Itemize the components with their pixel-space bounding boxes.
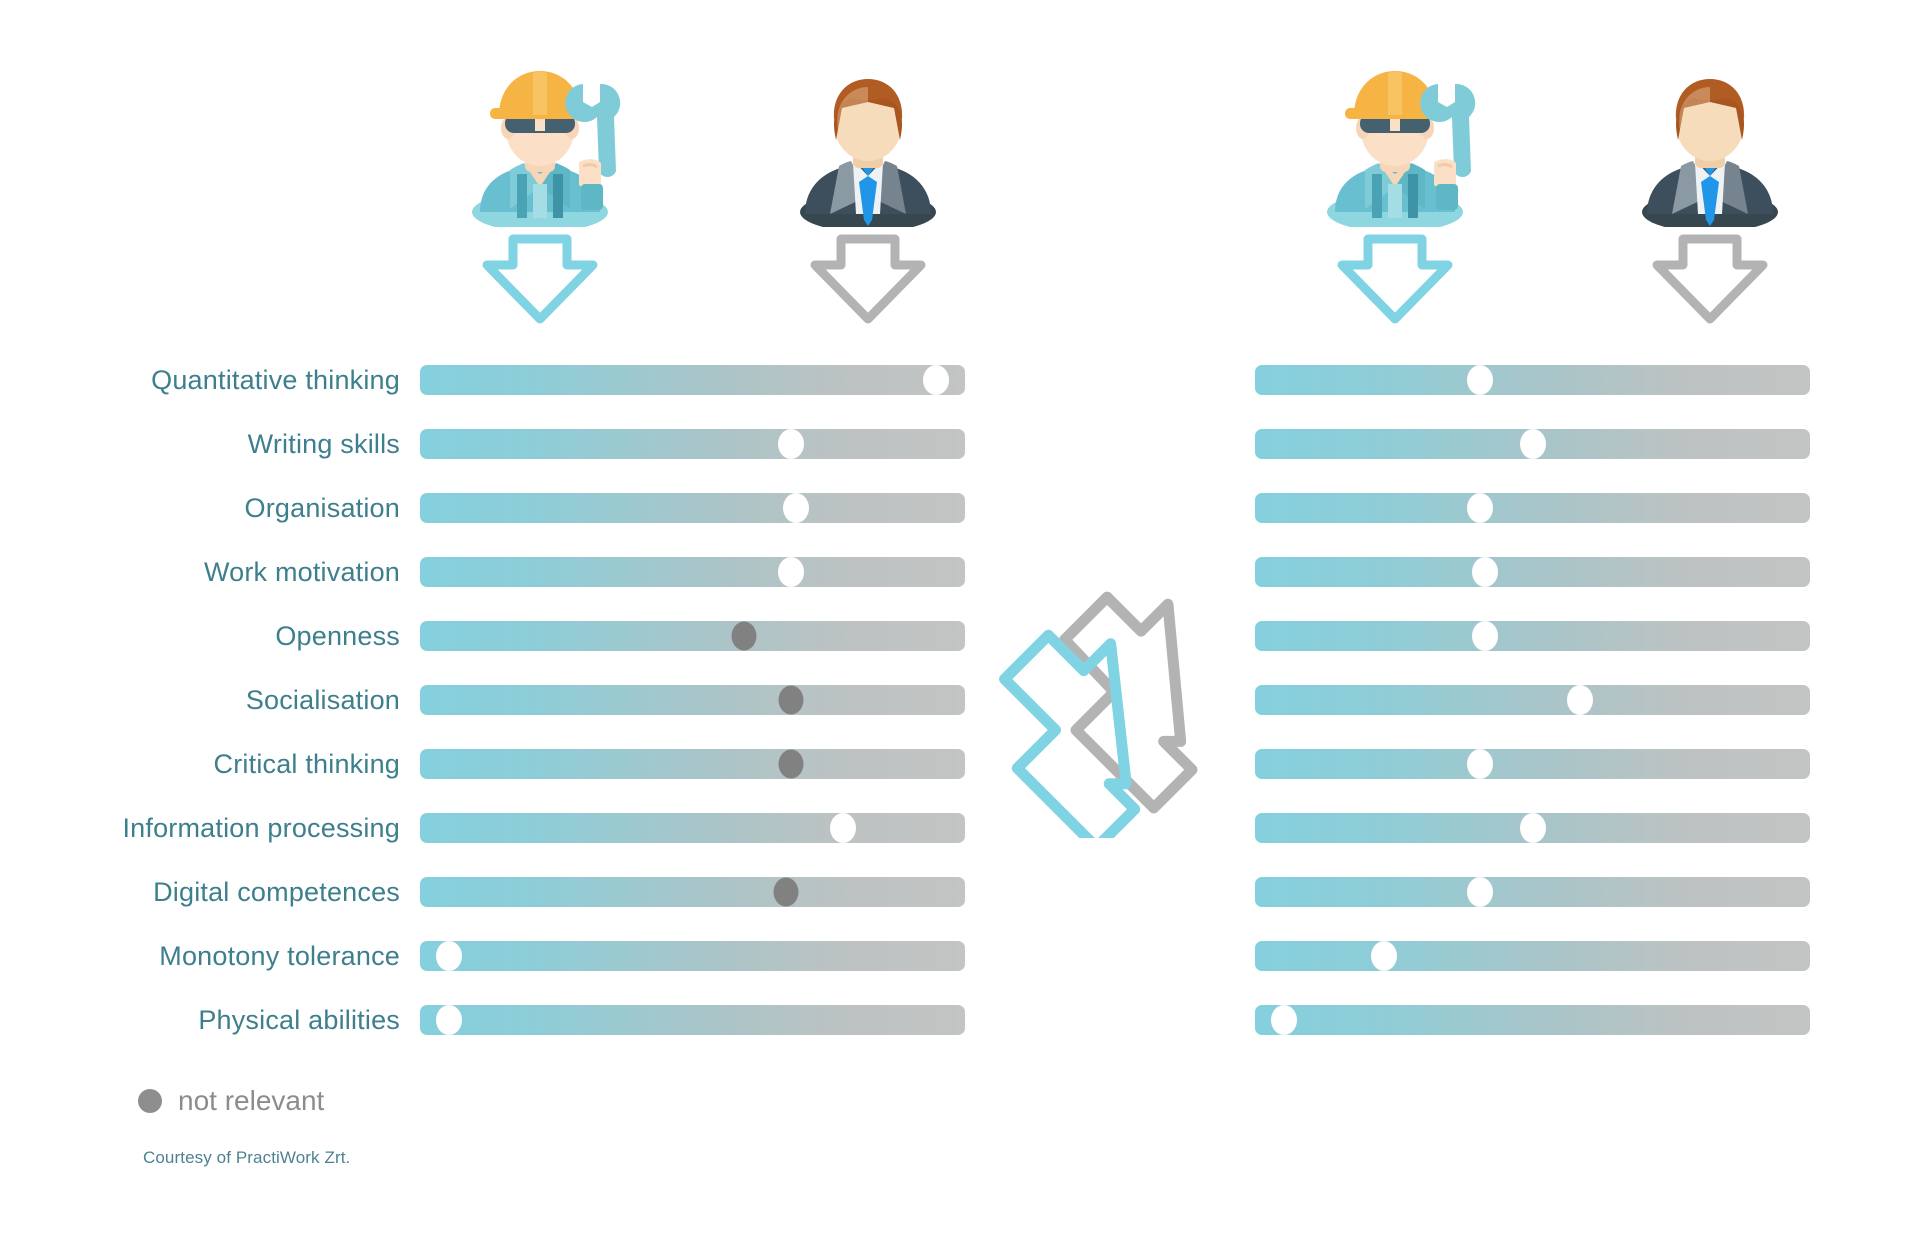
credit-text: Courtesy of PractiWork Zrt. bbox=[143, 1148, 350, 1168]
competency-label: Monotony tolerance bbox=[40, 924, 400, 988]
slider-knob-not-relevant[interactable] bbox=[779, 750, 804, 779]
slider-knob[interactable] bbox=[1467, 749, 1493, 779]
legend: not relevant bbox=[138, 1085, 324, 1117]
slider-knob[interactable] bbox=[830, 813, 856, 843]
businessman-in-suit-icon bbox=[1625, 62, 1795, 227]
slider-row[interactable] bbox=[420, 348, 965, 412]
slider-row[interactable] bbox=[1255, 604, 1810, 668]
slider-knob[interactable] bbox=[1520, 813, 1546, 843]
slider-row[interactable] bbox=[420, 988, 965, 1052]
slider-track[interactable] bbox=[1255, 685, 1810, 715]
slider-knob-not-relevant[interactable] bbox=[732, 622, 757, 651]
slider-knob[interactable] bbox=[783, 493, 809, 523]
slider-knob[interactable] bbox=[436, 1005, 462, 1035]
slider-knob[interactable] bbox=[436, 941, 462, 971]
competency-label: Information processing bbox=[40, 796, 400, 860]
slider-track[interactable] bbox=[1255, 877, 1810, 907]
slider-row[interactable] bbox=[1255, 860, 1810, 924]
slider-knob-not-relevant[interactable] bbox=[773, 878, 798, 907]
slider-row[interactable] bbox=[420, 540, 965, 604]
competency-label: Physical abilities bbox=[40, 988, 400, 1052]
slider-track[interactable] bbox=[420, 429, 965, 459]
slider-knob[interactable] bbox=[1371, 941, 1397, 971]
slider-row[interactable] bbox=[1255, 924, 1810, 988]
slider-row[interactable] bbox=[420, 476, 965, 540]
competency-label: Organisation bbox=[40, 476, 400, 540]
competency-label: Openness bbox=[40, 604, 400, 668]
legend-label: not relevant bbox=[178, 1085, 324, 1117]
slider-track[interactable] bbox=[1255, 1005, 1810, 1035]
slider-row[interactable] bbox=[1255, 988, 1810, 1052]
slider-row[interactable] bbox=[420, 860, 965, 924]
slider-track[interactable] bbox=[420, 749, 965, 779]
slider-panel-before bbox=[420, 348, 965, 1052]
slider-row[interactable] bbox=[420, 732, 965, 796]
slider-knob[interactable] bbox=[1271, 1005, 1297, 1035]
slider-knob[interactable] bbox=[1567, 685, 1593, 715]
competency-label: Writing skills bbox=[40, 412, 400, 476]
slider-track[interactable] bbox=[420, 557, 965, 587]
slider-knob[interactable] bbox=[1467, 877, 1493, 907]
slider-row[interactable] bbox=[1255, 412, 1810, 476]
slider-track[interactable] bbox=[1255, 621, 1810, 651]
slider-row[interactable] bbox=[420, 924, 965, 988]
infographic-canvas: Quantitative thinkingWriting skillsOrgan… bbox=[0, 0, 1920, 1255]
slider-track[interactable] bbox=[420, 1005, 965, 1035]
slider-track[interactable] bbox=[1255, 429, 1810, 459]
slider-track[interactable] bbox=[420, 365, 965, 395]
persona-businessman-right bbox=[1625, 62, 1795, 326]
down-arrow-icon bbox=[1625, 231, 1795, 326]
down-arrow-icon bbox=[783, 231, 953, 326]
slider-track[interactable] bbox=[420, 877, 965, 907]
competency-label: Digital competences bbox=[40, 860, 400, 924]
worker-with-wrench-icon bbox=[1310, 62, 1480, 227]
slider-knob[interactable] bbox=[1467, 493, 1493, 523]
slider-track[interactable] bbox=[420, 685, 965, 715]
slider-panel-after bbox=[1255, 348, 1810, 1052]
competency-label: Quantitative thinking bbox=[40, 348, 400, 412]
slider-knob[interactable] bbox=[778, 429, 804, 459]
slider-row[interactable] bbox=[420, 796, 965, 860]
grey-dot-icon bbox=[138, 1089, 162, 1113]
slider-row[interactable] bbox=[1255, 476, 1810, 540]
double-right-arrow-icon bbox=[995, 588, 1245, 838]
slider-row[interactable] bbox=[1255, 796, 1810, 860]
slider-row[interactable] bbox=[420, 668, 965, 732]
slider-track[interactable] bbox=[1255, 813, 1810, 843]
slider-track[interactable] bbox=[1255, 365, 1810, 395]
slider-knob-not-relevant[interactable] bbox=[779, 686, 804, 715]
slider-track[interactable] bbox=[420, 813, 965, 843]
slider-knob[interactable] bbox=[923, 365, 949, 395]
slider-track[interactable] bbox=[1255, 557, 1810, 587]
persona-worker-left bbox=[455, 62, 625, 326]
competency-label: Critical thinking bbox=[40, 732, 400, 796]
slider-knob[interactable] bbox=[1520, 429, 1546, 459]
persona-businessman-left bbox=[783, 62, 953, 326]
slider-track[interactable] bbox=[1255, 749, 1810, 779]
slider-track[interactable] bbox=[1255, 493, 1810, 523]
slider-track[interactable] bbox=[1255, 941, 1810, 971]
competency-label: Socialisation bbox=[40, 668, 400, 732]
businessman-in-suit-icon bbox=[783, 62, 953, 227]
down-arrow-icon bbox=[1310, 231, 1480, 326]
slider-track[interactable] bbox=[420, 621, 965, 651]
slider-track[interactable] bbox=[420, 493, 965, 523]
slider-row[interactable] bbox=[1255, 348, 1810, 412]
competency-label-list: Quantitative thinkingWriting skillsOrgan… bbox=[40, 348, 400, 1052]
slider-knob[interactable] bbox=[1472, 557, 1498, 587]
slider-row[interactable] bbox=[1255, 668, 1810, 732]
slider-knob[interactable] bbox=[1467, 365, 1493, 395]
persona-worker-right bbox=[1310, 62, 1480, 326]
slider-knob[interactable] bbox=[778, 557, 804, 587]
slider-knob[interactable] bbox=[1472, 621, 1498, 651]
competency-label: Work motivation bbox=[40, 540, 400, 604]
slider-track[interactable] bbox=[420, 941, 965, 971]
slider-row[interactable] bbox=[420, 412, 965, 476]
down-arrow-icon bbox=[455, 231, 625, 326]
worker-with-wrench-icon bbox=[455, 62, 625, 227]
slider-row[interactable] bbox=[1255, 732, 1810, 796]
slider-row[interactable] bbox=[420, 604, 965, 668]
slider-row[interactable] bbox=[1255, 540, 1810, 604]
